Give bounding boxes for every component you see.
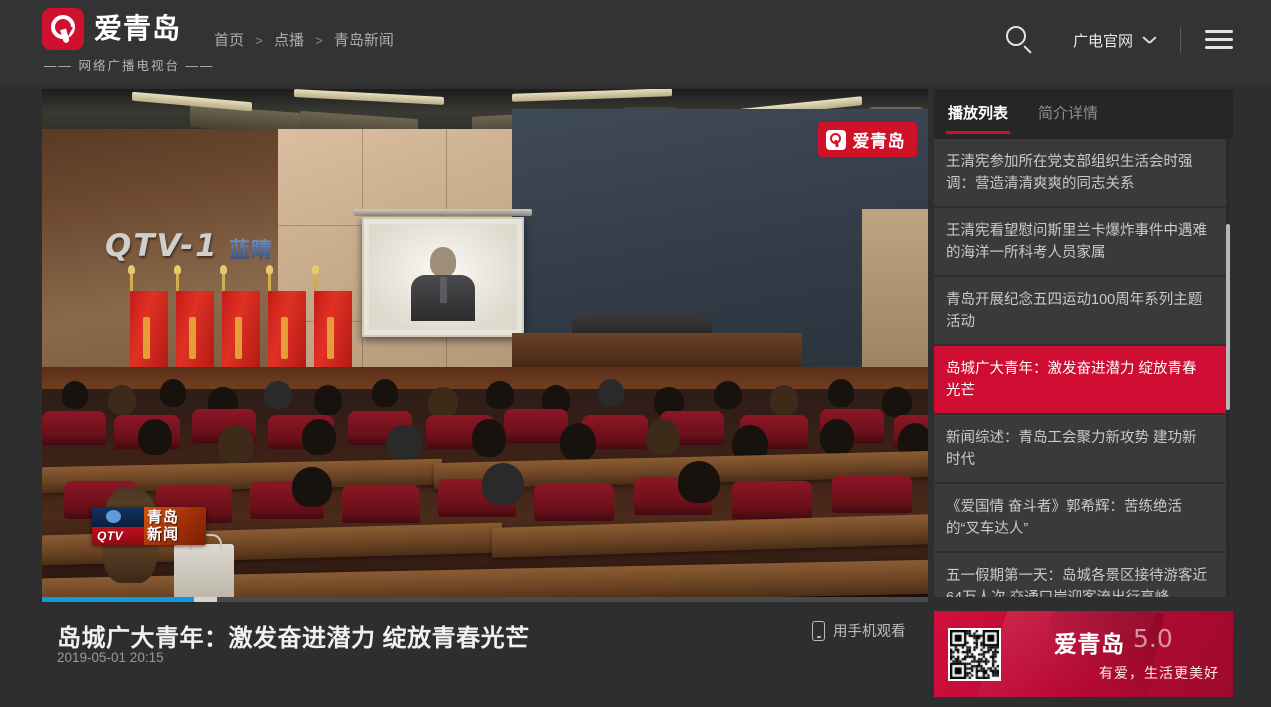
brand-block[interactable]: 爱青岛 —— 网络广播电视台 ——	[42, 8, 232, 74]
site-select-label: 广电官网	[1073, 30, 1133, 51]
watch-on-mobile-label: 用手机观看	[833, 620, 906, 641]
list-item[interactable]: 王清宪参加所在党支部组织生活会时强调：营造清清爽爽的同志关系	[934, 139, 1226, 206]
breadcrumb-separator: >	[255, 33, 263, 48]
playlist-scrollbar-thumb[interactable]	[1226, 224, 1230, 410]
video-frame-content: QTV-1 蓝睛	[42, 89, 928, 597]
news-bug-line1: 青岛	[147, 509, 179, 526]
video-progress-bar[interactable]	[42, 597, 928, 602]
aiqingdao-q-logo-icon[interactable]	[42, 8, 84, 50]
list-item-active[interactable]: 岛城广大青年：激发奋进潜力 绽放青春光芒	[934, 346, 1226, 413]
header-divider	[1180, 27, 1181, 53]
brand-subtitle: —— 网络广播电视台 ——	[42, 55, 232, 74]
player-watermark-label: 爱青岛	[853, 127, 906, 152]
qtv-news-bug: QTV 青岛 新闻	[92, 507, 206, 545]
list-item[interactable]: 新闻综述：青岛工会聚力新攻势 建功新时代	[934, 415, 1226, 482]
promo-banner[interactable]: 爱青岛 5.0 有爱，生活更美好	[934, 611, 1233, 697]
page-title: 岛城广大青年：激发奋进潜力 绽放青春光芒	[57, 618, 530, 653]
brand-name: 爱青岛	[94, 8, 181, 50]
search-icon[interactable]	[1001, 22, 1037, 58]
qtv-bug-label: QTV	[97, 529, 123, 543]
site-header: 爱青岛 —— 网络广播电视台 —— 首页 > 点播 > 青岛新闻 广电官网	[0, 0, 1271, 85]
banner-title: 爱青岛	[1054, 625, 1125, 659]
player-watermark-logo: 爱青岛	[818, 122, 918, 157]
site-select-dropdown[interactable]: 广电官网	[1073, 30, 1156, 51]
video-progress-played	[42, 597, 194, 602]
breadcrumb-item-qingdao-news[interactable]: 青岛新闻	[334, 32, 394, 49]
video-player[interactable]: QTV-1 蓝睛	[42, 89, 928, 597]
panel-tabs: 播放列表 简介详情	[934, 89, 1233, 139]
tab-description[interactable]: 简介详情	[1036, 89, 1100, 139]
playlist-list[interactable]: 王清宪参加所在党支部组织生活会时强调：营造清清爽爽的同志关系 王清宪看望慰问斯里…	[934, 139, 1233, 597]
tab-playlist[interactable]: 播放列表	[946, 89, 1010, 139]
qr-code-icon	[948, 628, 1001, 681]
list-item[interactable]: 青岛开展纪念五四运动100周年系列主题活动	[934, 277, 1226, 344]
video-timestamp: 2019-05-01 20:15	[57, 650, 164, 665]
breadcrumb-item-vod[interactable]: 点播	[274, 32, 304, 49]
list-item[interactable]: 王清宪看望慰问斯里兰卡爆炸事件中遇难的海洋一所科考人员家属	[934, 208, 1226, 275]
banner-tagline: 有爱，生活更美好	[1099, 663, 1219, 683]
header-actions: 广电官网	[1001, 22, 1233, 58]
news-bug-line2: 新闻	[147, 526, 179, 543]
banner-version: 5.0	[1133, 624, 1173, 653]
list-item[interactable]: 《爱国情 奋斗者》郭希辉：苦练绝活的“叉车达人”	[934, 484, 1226, 551]
playlist-scrollbar[interactable]	[1226, 139, 1230, 597]
playlist-panel: 播放列表 简介详情 王清宪参加所在党支部组织生活会时强调：营造清清爽爽的同志关系…	[934, 89, 1233, 597]
hamburger-menu-icon[interactable]	[1205, 30, 1233, 50]
mobile-phone-icon	[812, 621, 825, 641]
breadcrumb: 首页 > 点播 > 青岛新闻	[214, 29, 394, 50]
chevron-down-icon	[1143, 36, 1156, 44]
breadcrumb-item-home[interactable]: 首页	[214, 32, 244, 49]
watch-on-mobile-button[interactable]: 用手机观看	[812, 620, 906, 641]
list-item[interactable]: 五一假期第一天：岛城各景区接待游客近64万人次 交通口岸迎客流出行高峰	[934, 553, 1226, 597]
bag-object	[174, 544, 234, 597]
breadcrumb-separator: >	[315, 33, 323, 48]
